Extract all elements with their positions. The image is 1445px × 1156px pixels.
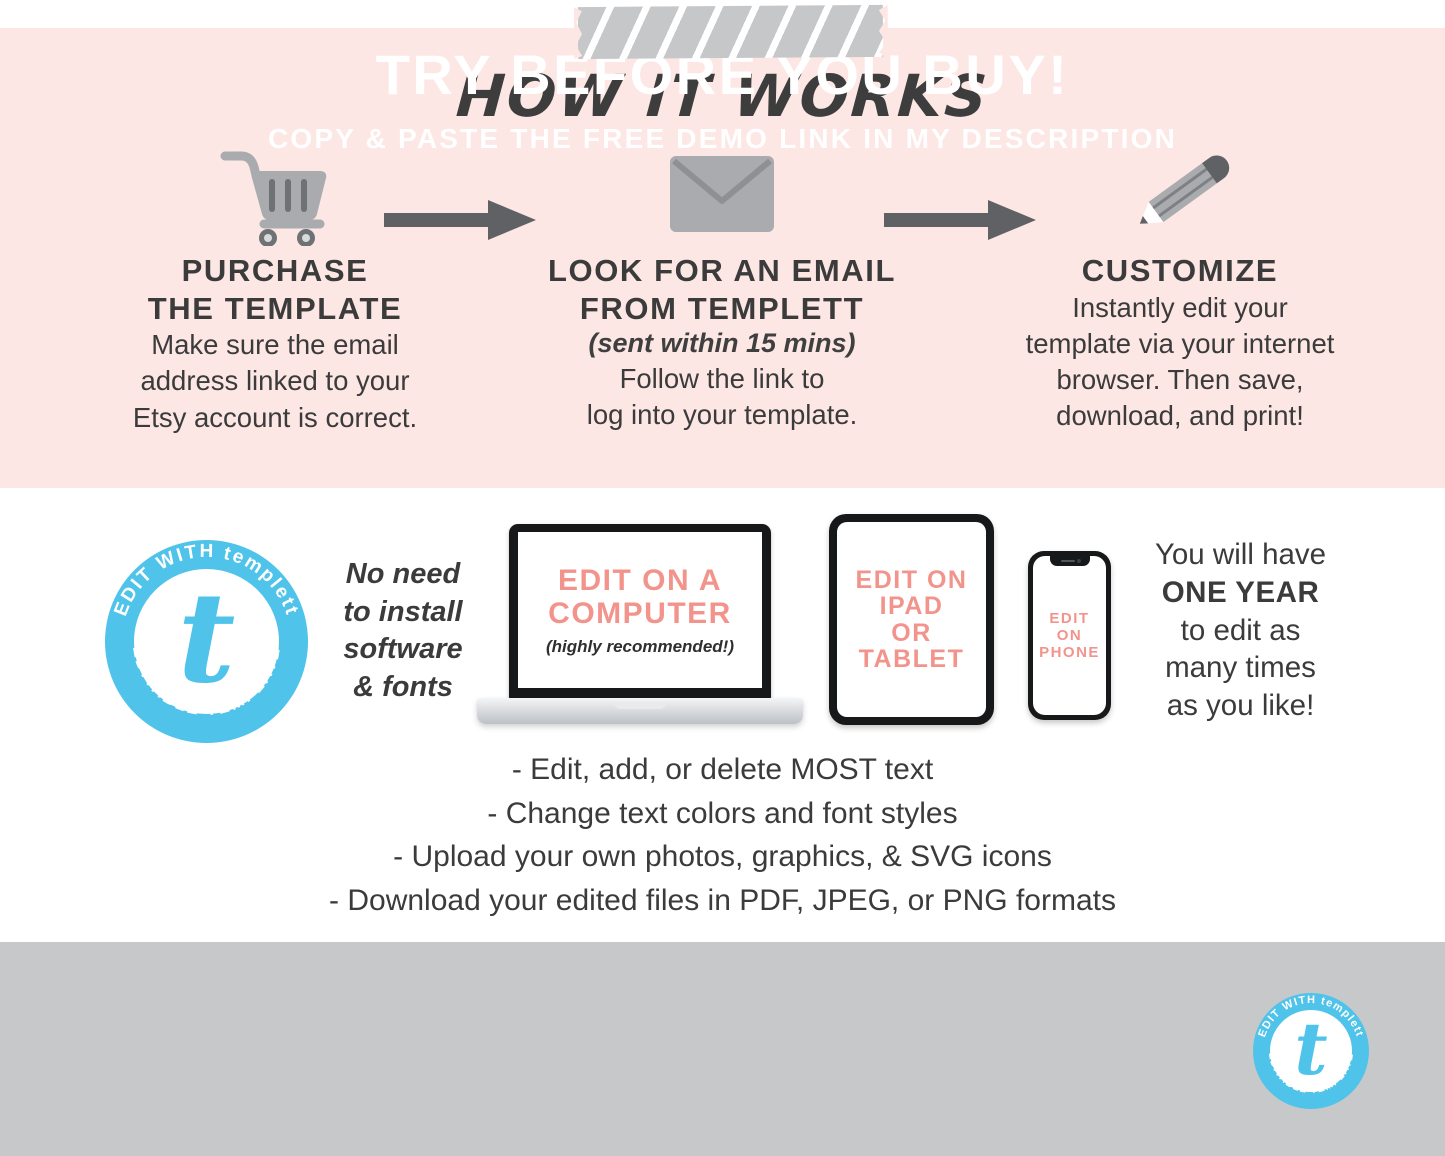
badge-bottom-arc-label: EDITABLE TEMPLATE xyxy=(129,644,284,719)
step-body-line-4: download, and print! xyxy=(990,398,1370,434)
tablet-headline-line-2: IPAD xyxy=(856,593,968,619)
phone-speaker-icon xyxy=(1061,560,1075,562)
washi-tape-decoration xyxy=(578,5,883,59)
no-install-line-1: No need xyxy=(328,556,478,594)
templett-badge: t EDIT WITH templett EDITABLE TEMPLATE xyxy=(105,540,308,743)
badge-bottom-arc-label: EDITABLE TEMPLATE xyxy=(1266,1052,1356,1096)
pencil-icon xyxy=(990,140,1370,248)
badge-arc-text: EDIT WITH templett EDITABLE TEMPLATE xyxy=(1253,993,1369,1109)
feature-list: - Edit, add, or delete MOST text - Chang… xyxy=(0,748,1445,922)
step-title: PURCHASE THE TEMPLATE xyxy=(85,252,465,327)
shopping-cart-icon-svg xyxy=(220,146,330,246)
no-install-line-2: to install xyxy=(328,594,478,632)
svg-text:EDIT WITH templett: EDIT WITH templett xyxy=(110,541,302,619)
step-body-line-2: template via your internet xyxy=(990,326,1370,362)
list-item: - Change text colors and font styles xyxy=(0,792,1445,836)
phone-headline-line-3: PHONE xyxy=(1039,644,1100,661)
no-install-line-3: software xyxy=(328,631,478,669)
list-item: - Edit, add, or delete MOST text xyxy=(0,748,1445,792)
pencil-icon-svg xyxy=(1120,146,1240,242)
list-item: - Download your edited files in PDF, JPE… xyxy=(0,879,1445,923)
no-install-line-4: & fonts xyxy=(328,669,478,707)
list-item: - Upload your own photos, graphics, & SV… xyxy=(0,835,1445,879)
step-title-line-1: PURCHASE xyxy=(85,252,465,290)
step-body-line-1: Make sure the email xyxy=(85,327,465,363)
step-title-line-1: LOOK FOR AN EMAIL xyxy=(532,252,912,290)
step-body: Follow the link to log into your templat… xyxy=(532,361,912,434)
tablet-headline-line-4: TABLET xyxy=(856,646,968,672)
step-look-for-email: LOOK FOR AN EMAIL FROM TEMPLETT (sent wi… xyxy=(532,140,912,433)
laptop-base xyxy=(477,698,803,724)
laptop-headline-line-2: COMPUTER xyxy=(548,597,732,630)
tablet-mockup: EDIT ON IPAD OR TABLET xyxy=(829,514,994,725)
laptop-mockup: EDIT ON A COMPUTER (highly recommended!) xyxy=(477,524,803,726)
envelope-icon-svg xyxy=(670,156,774,232)
badge-top-arc-label: EDIT WITH templett xyxy=(1256,994,1365,1039)
step-body: Instantly edit your template via your in… xyxy=(990,290,1370,435)
step-body-line-1: Instantly edit your xyxy=(990,290,1370,326)
phone-headline-line-1: EDIT xyxy=(1039,610,1100,627)
step-title: CUSTOMIZE xyxy=(990,252,1370,290)
laptop-trackpad-notch xyxy=(614,702,666,709)
laptop-headline-line-1: EDIT ON A xyxy=(548,564,732,597)
phone-notch xyxy=(1050,556,1090,566)
one-year-note: You will have ONE YEAR to edit as many t… xyxy=(1118,536,1363,725)
svg-text:EDITABLE TEMPLATE: EDITABLE TEMPLATE xyxy=(129,644,284,719)
step-title: LOOK FOR AN EMAIL FROM TEMPLETT xyxy=(532,252,912,327)
step-title-line-1: CUSTOMIZE xyxy=(990,252,1370,290)
phone-camera-icon xyxy=(1077,559,1081,563)
tablet-headline: EDIT ON IPAD OR TABLET xyxy=(856,567,968,672)
arrow-right-icon-1 xyxy=(384,198,536,242)
step-body-line-2: address linked to your xyxy=(85,363,465,399)
step-body: Make sure the email address linked to yo… xyxy=(85,327,465,436)
one-year-line-5: as you like! xyxy=(1118,687,1363,725)
tablet-screen: EDIT ON IPAD OR TABLET xyxy=(837,522,986,717)
step-body-line-3: Etsy account is correct. xyxy=(85,400,465,436)
svg-text:EDITABLE TEMPLATE: EDITABLE TEMPLATE xyxy=(1266,1052,1356,1096)
laptop-lid: EDIT ON A COMPUTER (highly recommended!) xyxy=(509,524,771,700)
step-body-line-1: Follow the link to xyxy=(532,361,912,397)
step-italic-note: (sent within 15 mins) xyxy=(532,327,912,361)
step-body-line-2: log into your template. xyxy=(532,397,912,433)
tablet-headline-line-1: EDIT ON xyxy=(856,567,968,593)
badge-top-arc-label: EDIT WITH templett xyxy=(110,541,302,619)
laptop-subtext: (highly recommended!) xyxy=(546,637,734,657)
step-title-line-2: THE TEMPLATE xyxy=(85,290,465,328)
one-year-line-1: You will have xyxy=(1118,536,1363,574)
one-year-emphasis: ONE YEAR xyxy=(1162,576,1320,609)
no-install-note: No need to install software & fonts xyxy=(328,556,478,707)
phone-screen: EDIT ON PHONE xyxy=(1033,556,1106,715)
laptop-headline: EDIT ON A COMPUTER xyxy=(548,564,732,630)
envelope-icon xyxy=(532,140,912,248)
footer-banner xyxy=(0,942,1445,1156)
svg-text:EDIT WITH templett: EDIT WITH templett xyxy=(1256,994,1365,1039)
step-customize: CUSTOMIZE Instantly edit your template v… xyxy=(990,140,1370,435)
laptop-screen: EDIT ON A COMPUTER (highly recommended!) xyxy=(518,532,762,688)
badge-arc-text: EDIT WITH templett EDITABLE TEMPLATE xyxy=(105,540,308,743)
step-title-line-2: FROM TEMPLETT xyxy=(532,290,912,328)
phone-headline: EDIT ON PHONE xyxy=(1039,610,1100,662)
phone-mockup: EDIT ON PHONE xyxy=(1028,551,1111,720)
step-purchase: PURCHASE THE TEMPLATE Make sure the emai… xyxy=(85,140,465,436)
step-body-line-3: browser. Then save, xyxy=(990,362,1370,398)
one-year-line-4: many times xyxy=(1118,649,1363,687)
tablet-headline-line-3: OR xyxy=(856,620,968,646)
templett-badge-footer: t EDIT WITH templett EDITABLE TEMPLATE xyxy=(1253,993,1369,1109)
footer-subtitle: COPY & PASTE THE FREE DEMO LINK IN MY DE… xyxy=(0,123,1445,155)
one-year-line-3: to edit as xyxy=(1118,612,1363,650)
phone-headline-line-2: ON xyxy=(1039,627,1100,644)
